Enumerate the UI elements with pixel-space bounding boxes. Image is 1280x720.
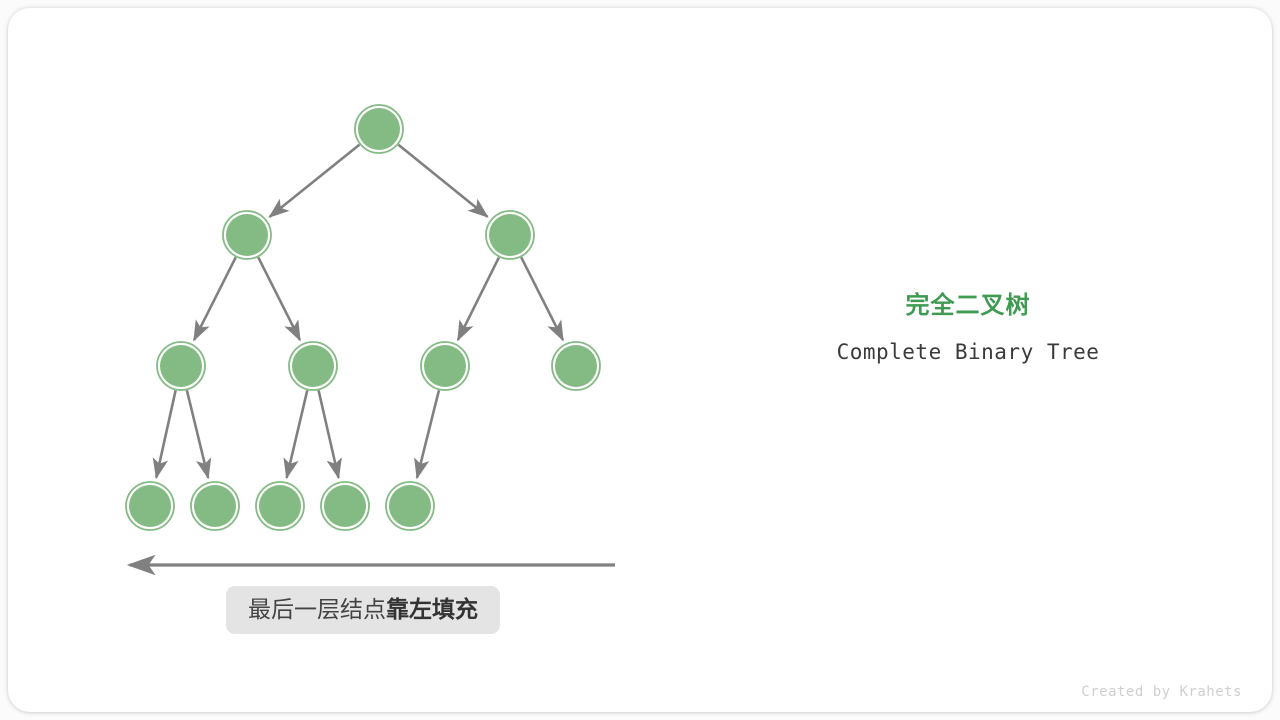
tree-edge bbox=[458, 257, 499, 340]
tree-node-disc bbox=[424, 345, 466, 387]
tree-node-lrl bbox=[256, 482, 304, 530]
tree-edge bbox=[270, 145, 360, 217]
tree-edge bbox=[287, 390, 308, 477]
annotation-text-normal: 最后一层结点 bbox=[248, 596, 386, 622]
tree-node-l bbox=[223, 211, 271, 259]
tree-edge bbox=[398, 145, 487, 217]
tree-node-disc bbox=[324, 485, 366, 527]
tree-node-disc bbox=[226, 214, 268, 256]
tree-edge bbox=[156, 390, 175, 477]
tree-node-disc bbox=[489, 214, 531, 256]
tree-node-lll bbox=[126, 482, 174, 530]
tree-edge bbox=[521, 257, 563, 340]
tree-node-group bbox=[126, 105, 600, 530]
tree-node-rll bbox=[386, 482, 434, 530]
tree-node-lr bbox=[289, 342, 337, 390]
tree-node-disc bbox=[194, 485, 236, 527]
tree-edge bbox=[319, 390, 339, 477]
tree-node-disc bbox=[358, 108, 400, 150]
diagram-canvas: 完全二叉树 Complete Binary Tree 最后一层结点靠左填充 Cr… bbox=[0, 0, 1280, 720]
title-english: Complete Binary Tree bbox=[768, 338, 1168, 366]
tree-node-rr bbox=[552, 342, 600, 390]
caption-block: 完全二叉树 Complete Binary Tree bbox=[768, 290, 1168, 366]
tree-node-disc bbox=[555, 345, 597, 387]
tree-node-ll bbox=[157, 342, 205, 390]
annotation-text-bold: 靠左填充 bbox=[386, 596, 478, 622]
tree-node-root bbox=[355, 105, 403, 153]
tree-node-r bbox=[486, 211, 534, 259]
watermark-credit: Created by Krahets bbox=[1081, 684, 1242, 700]
tree-node-disc bbox=[389, 485, 431, 527]
tree-node-rl bbox=[421, 342, 469, 390]
title-chinese: 完全二叉树 bbox=[768, 290, 1168, 322]
tree-node-llr bbox=[191, 482, 239, 530]
tree-edge-group bbox=[156, 145, 563, 478]
tree-edge bbox=[417, 390, 439, 478]
tree-edge bbox=[258, 257, 300, 340]
tree-node-lrr bbox=[321, 482, 369, 530]
tree-edge bbox=[194, 257, 236, 340]
tree-node-disc bbox=[259, 485, 301, 527]
last-level-annotation: 最后一层结点靠左填充 bbox=[226, 586, 500, 634]
tree-node-disc bbox=[160, 345, 202, 387]
tree-edge bbox=[187, 390, 208, 478]
tree-node-disc bbox=[292, 345, 334, 387]
tree-node-disc bbox=[129, 485, 171, 527]
